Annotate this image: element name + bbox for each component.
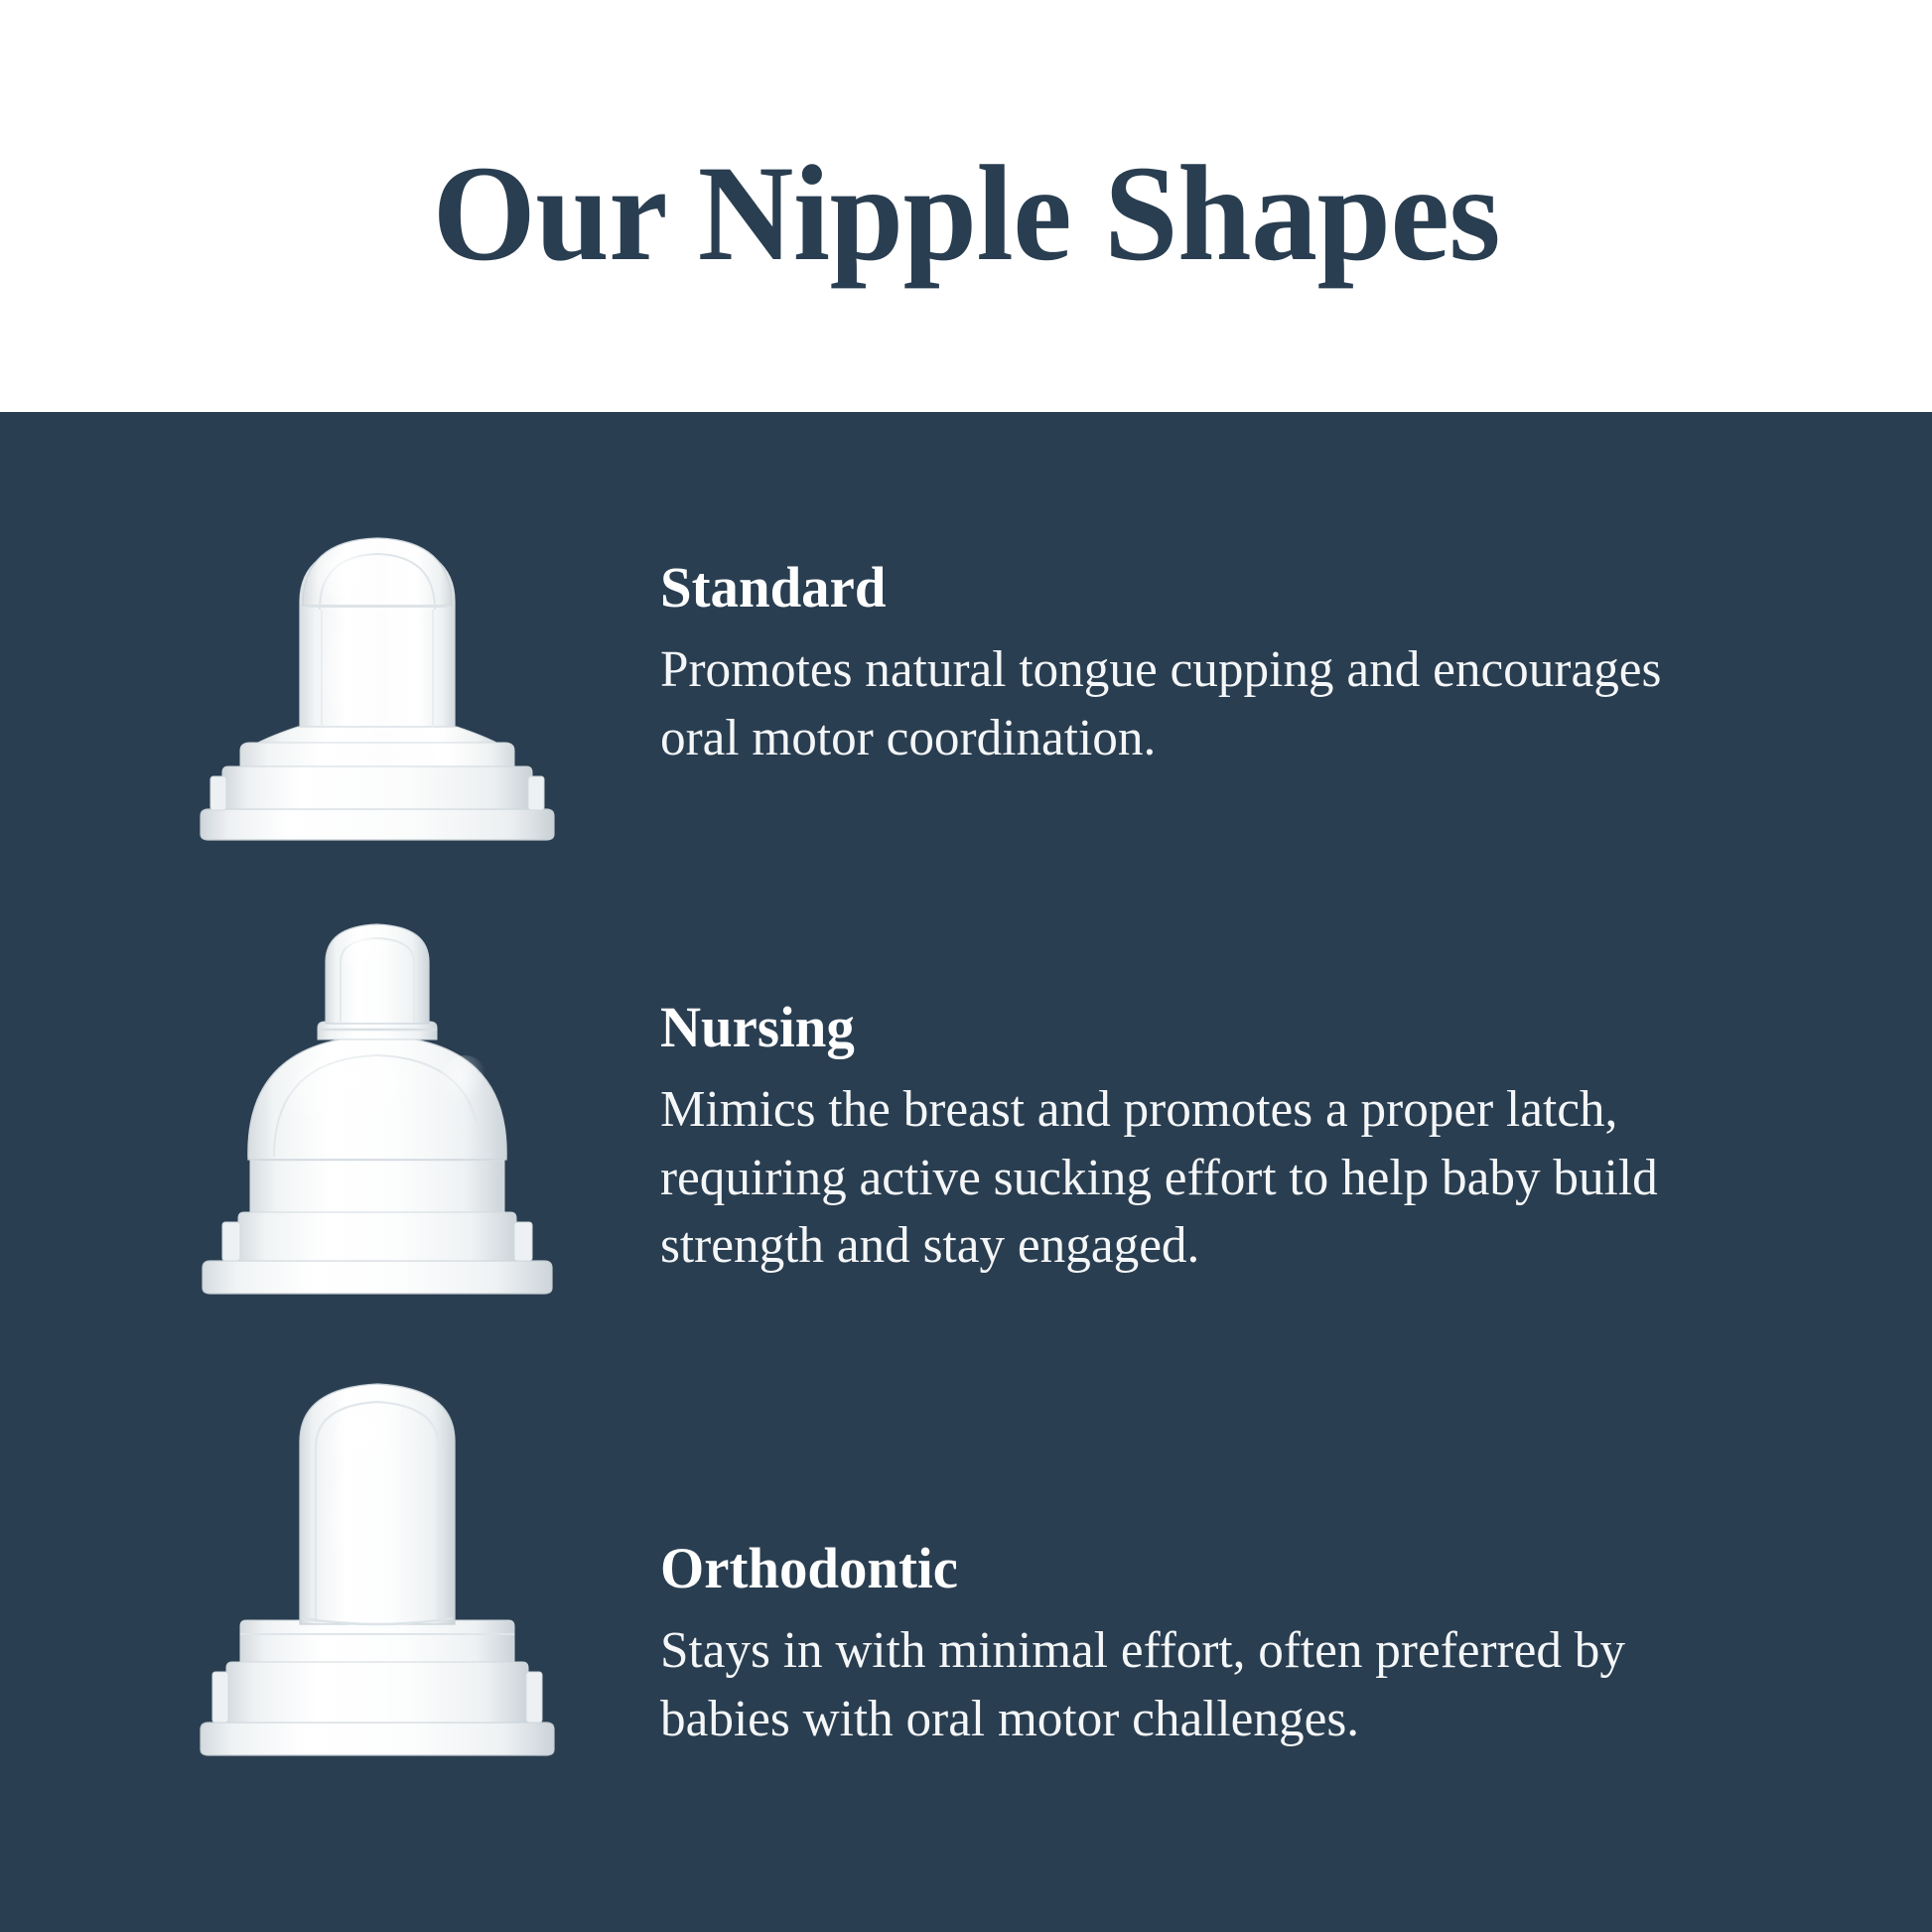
shape-list: Standard Promotes natural tongue cupping… [0,412,1932,1932]
nursing-nipple-figure [164,898,591,1296]
nursing-nipple-photo [179,918,576,1296]
standard-description: Promotes natural tongue cupping and enco… [660,636,1745,772]
nursing-copy: Nursing Mimics the breast and promotes a… [591,898,1762,1281]
header-band: Our Nipple Shapes [0,0,1932,412]
list-item: Orthodontic Stays in with minimal effort… [0,1350,1932,1757]
nursing-title: Nursing [660,998,1740,1058]
standard-nipple-figure [164,486,591,844]
orthodontic-nipple-figure [164,1350,591,1757]
content-panel: Standard Promotes natural tongue cupping… [0,412,1932,1932]
list-item: Standard Promotes natural tongue cupping… [0,486,1932,844]
orthodontic-description: Stays in with minimal effort, often pref… [660,1617,1745,1753]
orthodontic-title: Orthodontic [660,1539,1740,1599]
list-item: Nursing Mimics the breast and promotes a… [0,898,1932,1296]
nursing-description: Mimics the breast and promotes a proper … [660,1076,1745,1281]
page-title: Our Nipple Shapes [432,131,1499,282]
orthodontic-copy: Orthodontic Stays in with minimal effort… [591,1350,1762,1753]
standard-copy: Standard Promotes natural tongue cupping… [591,486,1762,772]
infographic-page: Our Nipple Shapes [0,0,1932,1932]
orthodontic-nipple-photo [179,1370,576,1757]
standard-title: Standard [660,558,1740,619]
standard-nipple-photo [179,506,576,844]
